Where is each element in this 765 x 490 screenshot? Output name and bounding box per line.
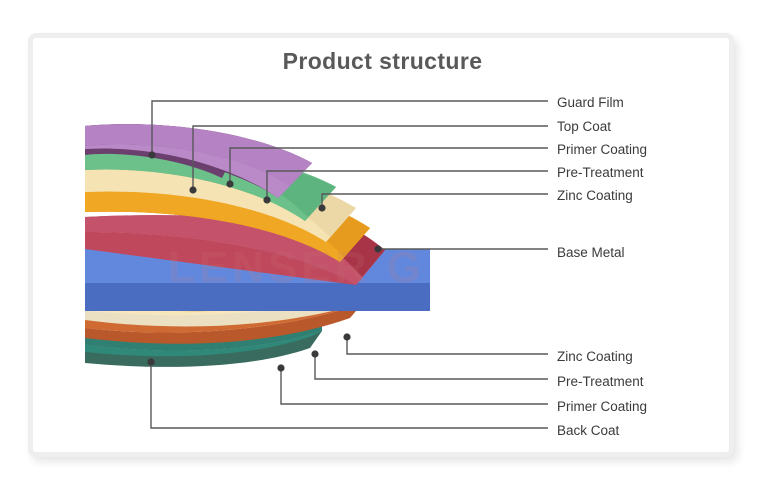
page-title: Product structure (0, 48, 765, 75)
leader-dot (147, 358, 154, 365)
layer-label: Primer Coating (557, 400, 647, 414)
leader-dot (226, 180, 233, 187)
layer-label: Pre-Treatment (557, 166, 644, 180)
leader-line (281, 368, 548, 404)
leader-line (347, 337, 548, 354)
layer-label: Top Coat (557, 120, 611, 134)
leader-dot (343, 333, 350, 340)
leader-line (322, 194, 548, 208)
leader-dot (189, 186, 196, 193)
layer-label: Zinc Coating (557, 189, 633, 203)
product-structure-figure: LENSER G Product structure Guard FilmTop… (0, 0, 765, 490)
layer-label: Zinc Coating (557, 350, 633, 364)
leader-dot (318, 204, 325, 211)
leader-line (151, 362, 548, 428)
layer-label: Primer Coating (557, 143, 647, 157)
leader-dot (263, 196, 270, 203)
layer-label: Back Coat (557, 424, 619, 438)
layer-label: Guard Film (557, 96, 624, 110)
leader-dot (311, 350, 318, 357)
layer-label: Base Metal (557, 246, 625, 260)
leader-dot (148, 151, 155, 158)
leader-dot (374, 245, 381, 252)
leader-line (315, 354, 548, 379)
leader-dot (277, 364, 284, 371)
layer-label: Pre-Treatment (557, 375, 644, 389)
